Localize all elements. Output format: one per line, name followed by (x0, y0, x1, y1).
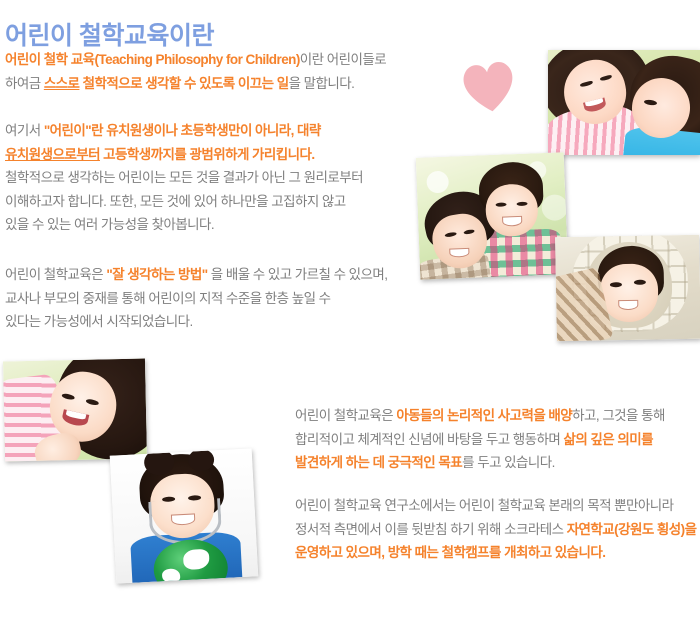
paragraph-definition: 어린이 철학 교육(Teaching Philosophy for Childr… (5, 48, 386, 95)
text-deep-meaning-of-life: 삶의 깊은 의미를 (563, 432, 653, 447)
photo-smiling-girl-on-grass (3, 359, 147, 462)
bokeh-light-3 (541, 194, 568, 221)
text-teaching-philosophy-term: 어린이 철학 교육(Teaching Philosophy for Childr… (5, 52, 300, 67)
text-self-emphasis: 스스로 (44, 76, 80, 91)
paragraph-scope-line-3: 철학적으로 생각하는 어린이는 모든 것을 결과가 아닌 그 원리로부터 (5, 166, 363, 190)
photo-father-and-boy (416, 152, 569, 280)
paragraph-goal-line-2: 합리적이고 체계적인 신념에 바탕을 두고 행동하며 삶의 깊은 의미를 (295, 428, 665, 452)
text-philosophy-camp: 운영하고 있으며, 방학 때는 철학캠프를 개최하고 있습니다. (295, 545, 606, 560)
photo-smiling-girl-scene (3, 359, 147, 462)
text-think-philosophically: 철학적으로 생각할 수 있도록 이끄는 일 (79, 76, 288, 91)
text-nature-school: 자연학교(강원도 횡성)을 (567, 522, 697, 537)
photo-father-and-boy-scene (416, 152, 569, 280)
paragraph-goal-line-3: 발견하게 하는 데 궁극적인 목표를 두고 있습니다. (295, 451, 665, 475)
text-p2-l1-head: 여기서 (5, 123, 44, 138)
text-logical-thinking: 아동들의 논리적인 사고력을 배양 (396, 408, 572, 423)
photo-boy-with-globe-scene (110, 448, 259, 583)
photo-kids-on-grass-scene (548, 50, 700, 155)
paragraph-scope-line-4: 이해하고자 합니다. 또한, 모든 것에 있어 하나만을 고집하지 않고 (5, 190, 363, 214)
paragraph-definition-line-1: 어린이 철학 교육(Teaching Philosophy for Childr… (5, 48, 386, 72)
text-child-definition: "어린이"란 유치원생이나 초등학생만이 아니라, 대략 (44, 123, 321, 138)
photo-boy-with-globe (110, 448, 259, 583)
photo-hooded-child-scene (555, 235, 700, 341)
paragraph-institute-line-2: 정서적 측면에서 이를 뒷받침 하기 위해 소크라테스 자연학교(강원도 횡성)… (295, 518, 696, 542)
text-from-kindergarten: 유치원생으로부터 (5, 147, 100, 162)
paragraph-scope-line-2: 유치원생으로부터 고등학생까지를 광범위하게 가리킵니다. (5, 143, 363, 167)
text-p1-l2-tail: 을 말합니다. (289, 76, 355, 91)
paragraph-institute-line-3: 운영하고 있으며, 방학 때는 철학캠프를 개최하고 있습니다. (295, 541, 696, 565)
text-ultimate-goal: 발견하게 하는 데 궁극적인 목표 (295, 455, 462, 470)
paragraph-scope: 여기서 "어린이"란 유치원생이나 초등학생만이 아니라, 대략 유치원생으로부… (5, 119, 363, 237)
paragraph-institute: 어린이 철학교육 연구소에서는 어린이 철학교육 본래의 목적 뿐만아니라 정서… (295, 494, 696, 565)
text-p5-l2-head: 정서적 측면에서 이를 뒷받침 하기 위해 소크라테스 (295, 522, 567, 537)
page-root: 어린이 철학교육이란 어린이 철학 교육(Teaching Philosophy… (0, 0, 700, 628)
text-p1-l2-head: 하여금 (5, 76, 44, 91)
bokeh-light-1 (426, 171, 449, 194)
paragraph-goal-line-1: 어린이 철학교육은 아동들의 논리적인 사고력을 배양하고, 그것을 통해 (295, 404, 665, 428)
paragraph-institute-line-1: 어린이 철학교육 연구소에서는 어린이 철학교육 본래의 목적 뿐만아니라 (295, 494, 696, 518)
text-to-highschool: 고등학생까지를 광범위하게 가리킵니다. (100, 147, 315, 162)
heart-icon (456, 54, 521, 118)
text-p1-l1-tail: 이란 어린이들로 (300, 52, 386, 67)
text-p4-l2-head: 합리적이고 체계적인 신념에 바탕을 두고 행동하며 (295, 432, 563, 447)
paragraph-scope-line-1: 여기서 "어린이"란 유치원생이나 초등학생만이 아니라, 대략 (5, 119, 363, 143)
text-p4-l1-head: 어린이 철학교육은 (295, 408, 396, 423)
paragraph-method: 어린이 철학교육은 "잘 생각하는 방법" 을 배울 수 있고 가르칠 수 있으… (5, 263, 388, 334)
paragraph-method-line-3: 있다는 가능성에서 시작되었습니다. (5, 310, 388, 334)
paragraph-scope-line-5: 있을 수 있는 여러 가능성을 찾아봅니다. (5, 213, 363, 237)
paragraph-method-line-2: 교사나 부모의 중재를 통해 어린이의 지적 수준을 한층 높일 수 (5, 287, 388, 311)
paragraph-definition-line-2: 하여금 스스로 철학적으로 생각할 수 있도록 이끄는 일을 말합니다. (5, 72, 386, 96)
text-p3-l1-head: 어린이 철학교육은 (5, 267, 106, 282)
photo-kids-on-grass (548, 50, 700, 155)
text-p3-l1-tail: 을 배울 수 있고 가르칠 수 있으며, (208, 267, 388, 282)
paragraph-method-line-1: 어린이 철학교육은 "잘 생각하는 방법" 을 배울 수 있고 가르칠 수 있으… (5, 263, 388, 287)
text-p4-l1-tail: 하고, 그것을 통해 (572, 408, 665, 423)
photo-hooded-child (555, 235, 700, 341)
paragraph-goal: 어린이 철학교육은 아동들의 논리적인 사고력을 배양하고, 그것을 통해 합리… (295, 404, 665, 475)
text-good-thinking-method: "잘 생각하는 방법" (106, 267, 207, 282)
text-p4-l3-tail: 를 두고 있습니다. (462, 455, 555, 470)
